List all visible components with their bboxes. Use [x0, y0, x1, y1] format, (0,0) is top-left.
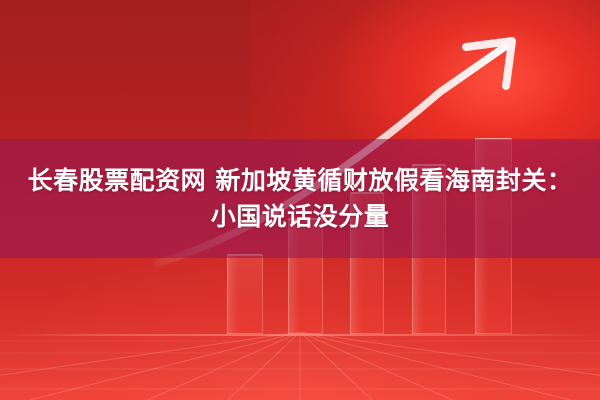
chart-bar	[227, 254, 263, 334]
headline-line-2: 小国说话没分量	[211, 202, 390, 231]
bar-sheen	[227, 254, 239, 334]
headline-text-block: 长春股票配资网 新加坡黄循财放假看海南封关： 小国说话没分量	[0, 139, 600, 258]
perspective-grid-floor	[0, 332, 600, 400]
floor-grid-svg	[0, 332, 600, 400]
floor-horizon-line	[0, 334, 600, 336]
headline-line-1: 长春股票配资网 新加坡黄循财放假看海南封关：	[28, 166, 573, 195]
promo-banner-image: 长春股票配资网 新加坡黄循财放假看海南封关： 小国说话没分量	[0, 0, 600, 400]
